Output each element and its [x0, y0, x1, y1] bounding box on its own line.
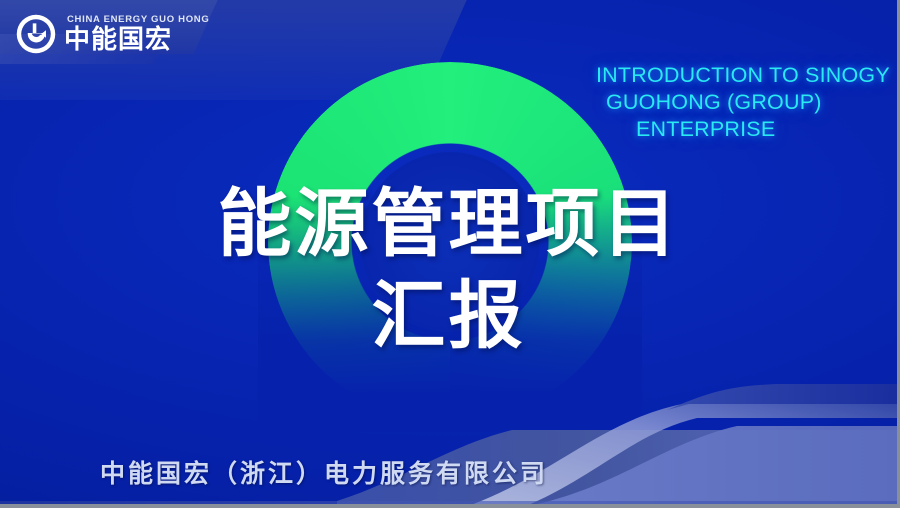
english-heading-line-1: INTRODUCTION TO SINOGY	[596, 62, 900, 89]
company-logo-icon	[14, 12, 58, 56]
title-line-2: 汇报	[0, 270, 897, 362]
footer-company-name: 中能国宏（浙江）电力服务有限公司	[100, 454, 548, 490]
logo-english-name: CHINA ENERGY GUO HONG	[67, 15, 209, 25]
presentation-title-slide: CHINA ENERGY GUO HONG 中能国宏 INTRODUCTION …	[0, 0, 900, 508]
slide-bottom-edge	[0, 501, 897, 504]
english-heading-line-3: ENTERPRISE	[596, 116, 900, 143]
title-line-1: 能源管理项目	[0, 178, 897, 270]
english-heading-line-2: GUOHONG (GROUP)	[596, 89, 900, 116]
brand-logo: CHINA ENERGY GUO HONG 中能国宏	[14, 12, 209, 56]
english-heading: INTRODUCTION TO SINOGY GUOHONG (GROUP) E…	[596, 62, 900, 143]
page-title: 能源管理项目 汇报	[0, 178, 897, 362]
logo-chinese-name: 中能国宏	[64, 27, 209, 53]
logo-wordmark: CHINA ENERGY GUO HONG 中能国宏	[64, 15, 209, 53]
